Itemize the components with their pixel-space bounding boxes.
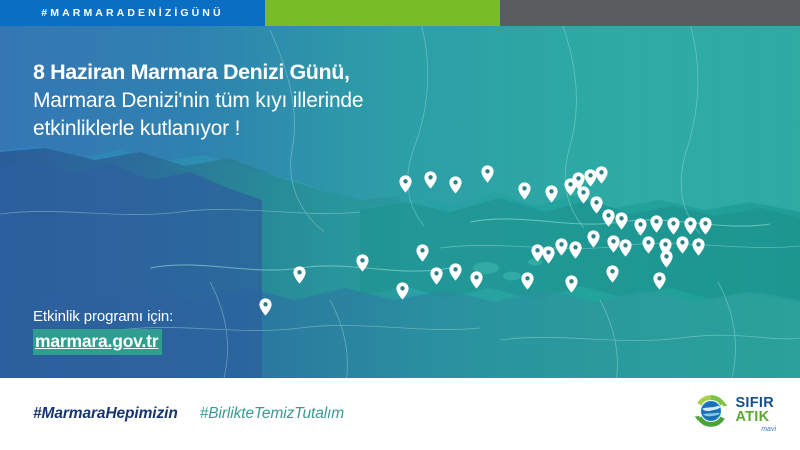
top-color-bar: #MARMARADENİZİGÜNÜ xyxy=(0,0,800,26)
cta-label: Etkinlik programı için: xyxy=(33,308,173,325)
map-marker-pin[interactable] xyxy=(676,236,689,254)
map-marker-pin[interactable] xyxy=(650,215,663,233)
map-marker-pin[interactable] xyxy=(542,246,555,264)
topbar-segment-blue: #MARMARADENİZİGÜNÜ xyxy=(0,0,265,26)
logo-wordmark: SIFIR ATIK mavi xyxy=(735,397,774,425)
map-marker-pin[interactable] xyxy=(356,254,369,272)
map-marker-pin[interactable] xyxy=(416,244,429,262)
topbar-segment-green xyxy=(265,0,500,26)
headline-line-1: 8 Haziran Marmara Denizi Günü, xyxy=(33,58,363,87)
map-marker-pin[interactable] xyxy=(293,266,306,284)
cta-block: Etkinlik programı için: marmara.gov.tr xyxy=(33,308,173,355)
map-marker-pin[interactable] xyxy=(259,298,272,316)
map-marker-pin[interactable] xyxy=(518,182,531,200)
map-marker-pin[interactable] xyxy=(449,263,462,281)
map-marker-pin[interactable] xyxy=(569,241,582,259)
map-marker-pin[interactable] xyxy=(606,265,619,283)
map-marker-pin[interactable] xyxy=(653,272,666,290)
map-marker-pin[interactable] xyxy=(521,272,534,290)
recycle-globe-icon xyxy=(692,392,730,430)
map-marker-pin[interactable] xyxy=(577,186,590,204)
map-marker-pin[interactable] xyxy=(555,238,568,256)
map-marker-pin[interactable] xyxy=(634,218,647,236)
sifir-atik-logo: SIFIR ATIK mavi xyxy=(692,392,774,430)
logo-text-mavi: mavi xyxy=(761,427,776,434)
map-marker-pin[interactable] xyxy=(396,282,409,300)
footer-hashtags: #MarmaraHepimizin #BirlikteTemizTutalım xyxy=(33,405,344,423)
map-marker-pin[interactable] xyxy=(587,230,600,248)
map-marker-pin[interactable] xyxy=(615,212,628,230)
map-marker-pin[interactable] xyxy=(642,236,655,254)
map-marker-pin[interactable] xyxy=(430,267,443,285)
headline-line-3: etkinliklerle kutlanıyor ! xyxy=(33,115,363,143)
poster-canvas: #MARMARADENİZİGÜNÜ 8 Haziran Marmara Den… xyxy=(0,0,800,450)
hashtag-birlikte-temiz-tutalim: #BirlikteTemizTutalım xyxy=(200,405,344,423)
map-marker-pin[interactable] xyxy=(565,275,578,293)
campaign-hashtag-top: #MARMARADENİZİGÜNÜ xyxy=(0,0,265,26)
map-marker-pin[interactable] xyxy=(602,209,615,227)
map-marker-pin[interactable] xyxy=(470,271,483,289)
headline-line-2: Marmara Denizi'nin tüm kıyı illerinde xyxy=(33,87,363,115)
hashtag-marmara-hepimizin: #MarmaraHepimizin xyxy=(33,405,178,423)
map-marker-pin[interactable] xyxy=(699,217,712,235)
map-marker-pin[interactable] xyxy=(545,185,558,203)
program-website-link[interactable]: marmara.gov.tr xyxy=(33,329,162,355)
map-marker-pin[interactable] xyxy=(660,250,673,268)
footer-bar: #MarmaraHepimizin #BirlikteTemizTutalım xyxy=(0,378,800,450)
headline-block: 8 Haziran Marmara Denizi Günü, Marmara D… xyxy=(33,58,363,142)
map-marker-pin[interactable] xyxy=(667,217,680,235)
topbar-segment-gray xyxy=(500,0,800,26)
map-marker-pin[interactable] xyxy=(481,165,494,183)
map-marker-pin[interactable] xyxy=(399,175,412,193)
map-marker-pin[interactable] xyxy=(619,239,632,257)
map-marker-pin[interactable] xyxy=(449,176,462,194)
map-marker-pin[interactable] xyxy=(595,166,608,184)
map-marker-pin[interactable] xyxy=(692,238,705,256)
logo-text-atik: ATIK xyxy=(735,411,774,425)
map-marker-pin[interactable] xyxy=(684,217,697,235)
map-marker-pin[interactable] xyxy=(424,171,437,189)
